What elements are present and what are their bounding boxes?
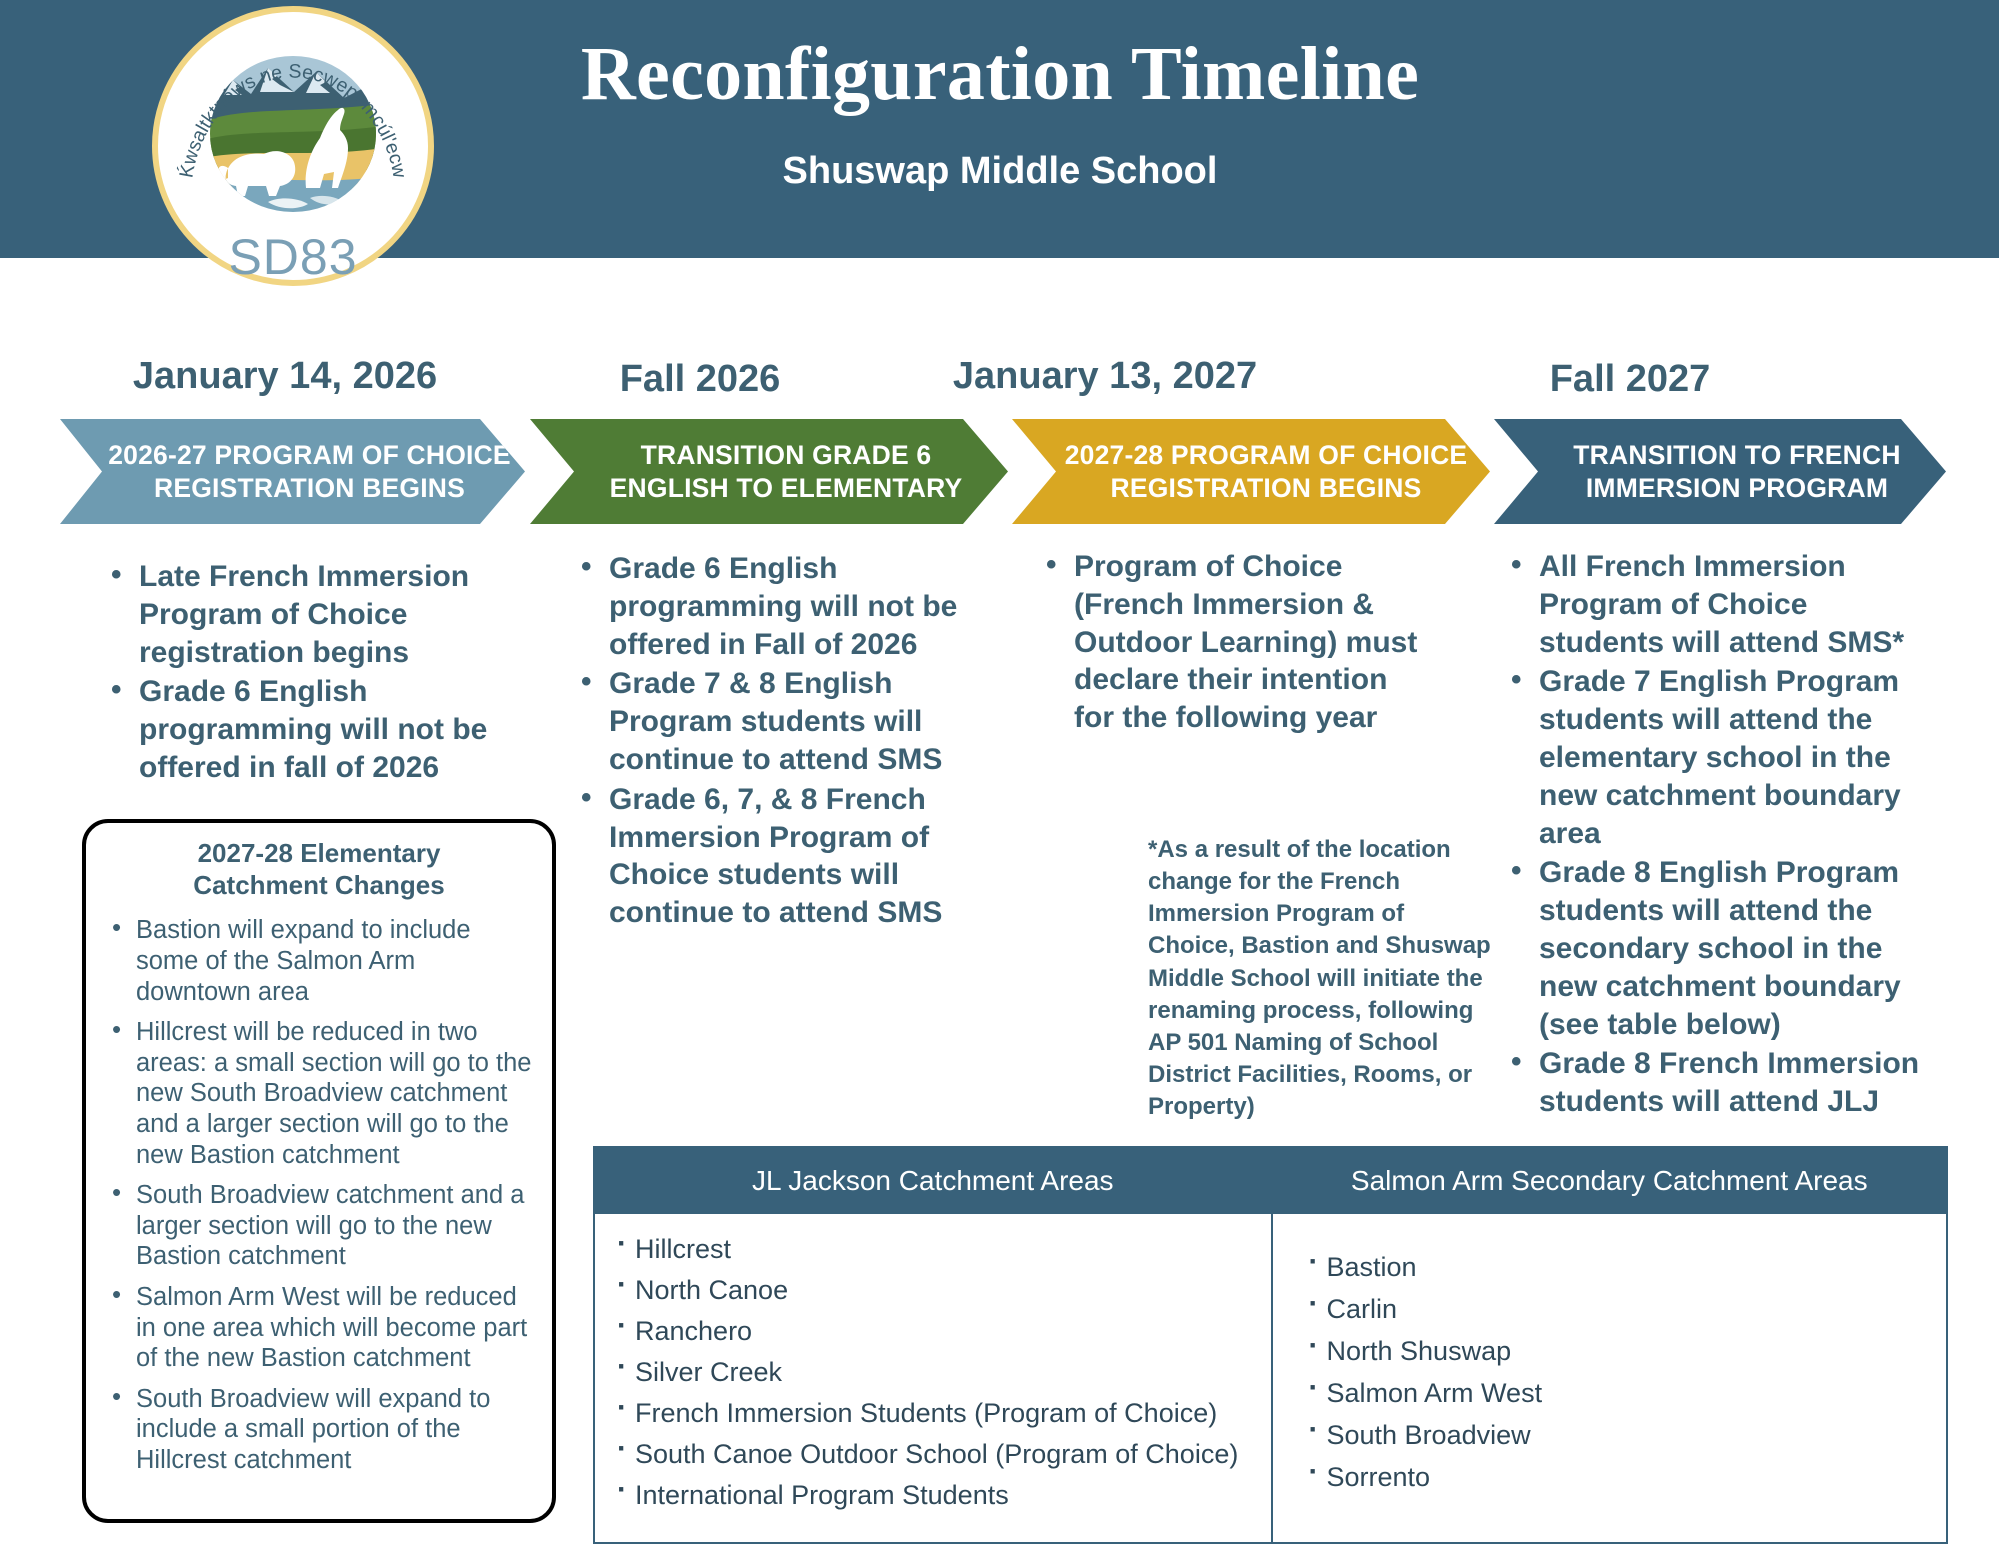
list-item: Grade 6 English programming will not be … bbox=[105, 673, 490, 786]
list-item: Program of Choice (French Immersion & Ou… bbox=[1040, 548, 1430, 737]
timeline-date-0: January 14, 2026 bbox=[55, 355, 515, 398]
page-subtitle: Shuswap Middle School bbox=[560, 150, 1440, 193]
sd83-district-logo: Ḱwsaltktnéws ne Secwepemcúl'ecw SD83 bbox=[148, 6, 438, 294]
table-row: North Shuswap bbox=[1309, 1338, 1937, 1365]
timeline-band-1: TRANSITION GRADE 6 ENGLISH TO ELEMENTARY bbox=[530, 419, 1008, 524]
table-row: Carlin bbox=[1309, 1296, 1937, 1323]
timeline-band-2-line2: REGISTRATION BEGINS bbox=[1051, 472, 1482, 504]
table-row: North Canoe bbox=[617, 1277, 1261, 1304]
list-item: Late French Immersion Program of Choice … bbox=[105, 558, 490, 671]
table-row: Sorrento bbox=[1309, 1464, 1937, 1491]
timeline-bullets-3: All French Immersion Program of Choice s… bbox=[1505, 548, 1925, 1123]
timeline-band-2: 2027-28 PROGRAM OF CHOICE REGISTRATION B… bbox=[1012, 419, 1490, 524]
table-row: French Immersion Students (Program of Ch… bbox=[617, 1400, 1261, 1427]
timeline-band-1-line1: TRANSITION GRADE 6 bbox=[596, 439, 977, 471]
page-title: Reconfiguration Timeline bbox=[560, 36, 1440, 112]
timeline-band-0-line1: 2026-27 PROGRAM OF CHOICE bbox=[94, 439, 525, 471]
list-item: Grade 8 French Immersion students will a… bbox=[1505, 1045, 1925, 1121]
table-body: Hillcrest North Canoe Ranchero Silver Cr… bbox=[595, 1214, 1271, 1542]
table-body: Bastion Carlin North Shuswap Salmon Arm … bbox=[1273, 1214, 1947, 1542]
table-header-cell: Salmon Arm Secondary Catchment Areas bbox=[1273, 1148, 1947, 1214]
timeline-band-0-line2: REGISTRATION BEGINS bbox=[94, 472, 525, 504]
table-row: Hillcrest bbox=[617, 1236, 1261, 1263]
timeline-band-3-line1: TRANSITION TO FRENCH bbox=[1559, 439, 1914, 471]
timeline-bullets-0: Late French Immersion Program of Choice … bbox=[105, 558, 490, 789]
table-row: Silver Creek bbox=[617, 1359, 1261, 1386]
table-row: Ranchero bbox=[617, 1318, 1261, 1345]
list-item: Grade 7 English Program students will at… bbox=[1505, 663, 1925, 852]
svg-text:SD83: SD83 bbox=[228, 229, 357, 285]
list-item: Hillcrest will be reduced in two areas: … bbox=[102, 1017, 536, 1170]
catchment-changes-box: 2027-28 Elementary Catchment Changes Bas… bbox=[82, 819, 556, 1523]
catchment-changes-list: Bastion will expand to include some of t… bbox=[102, 915, 536, 1475]
table-row: South Canoe Outdoor School (Program of C… bbox=[617, 1441, 1261, 1468]
list-item: Grade 7 & 8 English Program students wil… bbox=[575, 665, 975, 778]
timeline-band-2-line1: 2027-28 PROGRAM OF CHOICE bbox=[1051, 439, 1482, 471]
table-row: Bastion bbox=[1309, 1254, 1937, 1281]
list-item: Grade 8 English Program students will at… bbox=[1505, 854, 1925, 1043]
timeline-bullets-1: Grade 6 English programming will not be … bbox=[575, 550, 975, 934]
table-row: Salmon Arm West bbox=[1309, 1380, 1937, 1407]
catchment-areas-table: JL Jackson Catchment Areas Hillcrest Nor… bbox=[593, 1146, 1948, 1544]
timeline-band-3: TRANSITION TO FRENCH IMMERSION PROGRAM bbox=[1494, 419, 1946, 524]
table-column-salmon-arm-secondary: Salmon Arm Secondary Catchment Areas Bas… bbox=[1271, 1148, 1947, 1542]
infographic-page: Reconfiguration Timeline Shuswap Middle … bbox=[0, 0, 1999, 1545]
list-item: South Broadview will expand to include a… bbox=[102, 1384, 536, 1476]
list-item: Bastion will expand to include some of t… bbox=[102, 915, 536, 1007]
catchment-changes-title: 2027-28 Elementary Catchment Changes bbox=[102, 837, 536, 901]
location-change-footnote: *As a result of the location change for … bbox=[1148, 834, 1493, 1123]
timeline-date-3: Fall 2027 bbox=[1420, 358, 1840, 401]
table-header-cell: JL Jackson Catchment Areas bbox=[595, 1148, 1271, 1214]
timeline-date-2: January 13, 2027 bbox=[875, 355, 1335, 398]
list-item: Grade 6, 7, & 8 French Immersion Program… bbox=[575, 781, 975, 932]
timeline-date-1: Fall 2026 bbox=[490, 358, 910, 401]
timeline-band-1-line2: ENGLISH TO ELEMENTARY bbox=[596, 472, 977, 504]
list-item: All French Immersion Program of Choice s… bbox=[1505, 548, 1925, 661]
table-row: South Broadview bbox=[1309, 1422, 1937, 1449]
timeline-band-0: 2026-27 PROGRAM OF CHOICE REGISTRATION B… bbox=[60, 419, 525, 524]
list-item: South Broadview catchment and a larger s… bbox=[102, 1180, 536, 1272]
table-row: International Program Students bbox=[617, 1482, 1261, 1509]
timeline-bullets-2: Program of Choice (French Immersion & Ou… bbox=[1040, 548, 1430, 739]
list-item: Grade 6 English programming will not be … bbox=[575, 550, 975, 663]
table-column-jl-jackson: JL Jackson Catchment Areas Hillcrest Nor… bbox=[595, 1148, 1271, 1542]
timeline-band-3-line2: IMMERSION PROGRAM bbox=[1559, 472, 1914, 504]
list-item: Salmon Arm West will be reduced in one a… bbox=[102, 1282, 536, 1374]
